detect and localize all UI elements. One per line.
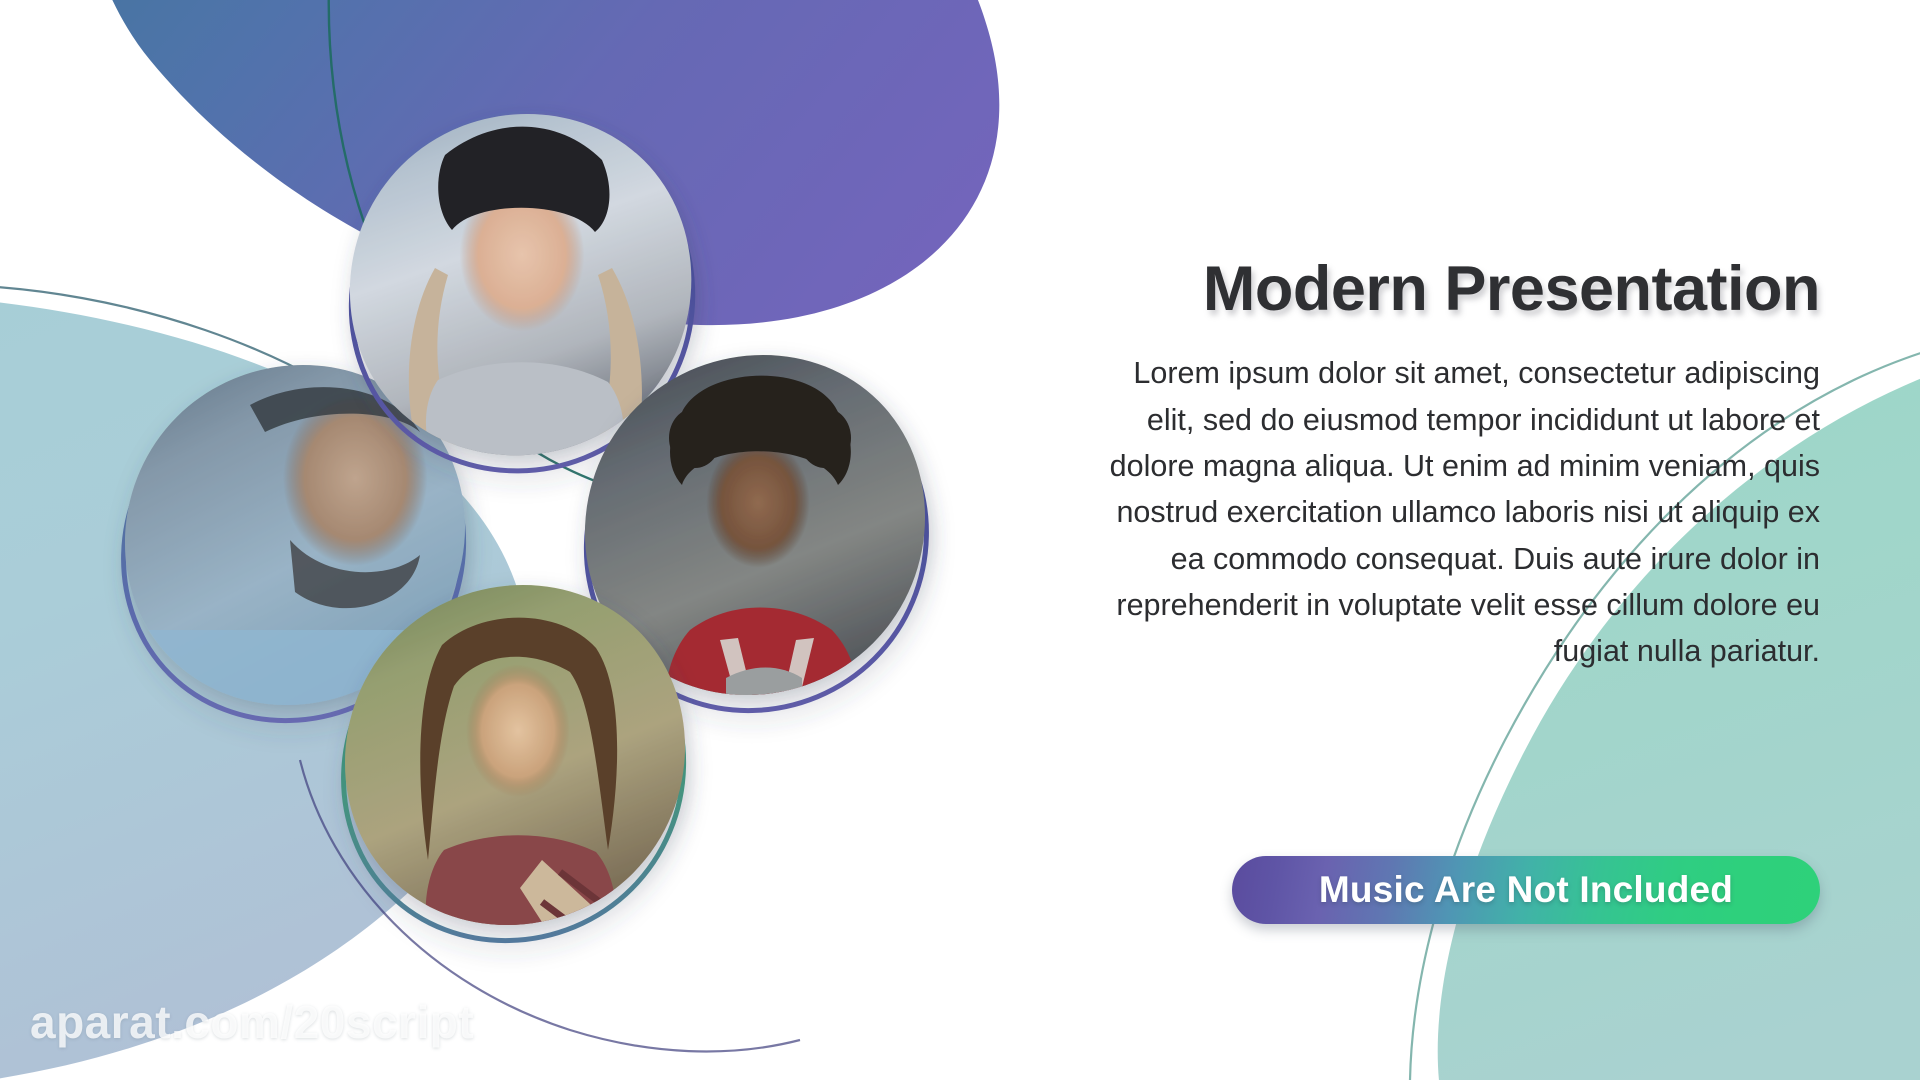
cta-container: Music Are Not Included [1232, 856, 1820, 924]
presentation-slide: Modern Presentation Lorem ipsum dolor si… [0, 0, 1920, 1080]
page-title: Modern Presentation [1085, 255, 1820, 324]
music-not-included-button[interactable]: Music Are Not Included [1232, 856, 1820, 924]
watermark-text: aparat.com/20script [30, 995, 474, 1049]
body-paragraph: Lorem ipsum dolor sit amet, consectetur … [1085, 350, 1820, 675]
photo-tiles-group [90, 60, 970, 1020]
text-content-column: Modern Presentation Lorem ipsum dolor si… [1085, 255, 1820, 675]
photo-cluster [90, 60, 970, 1020]
